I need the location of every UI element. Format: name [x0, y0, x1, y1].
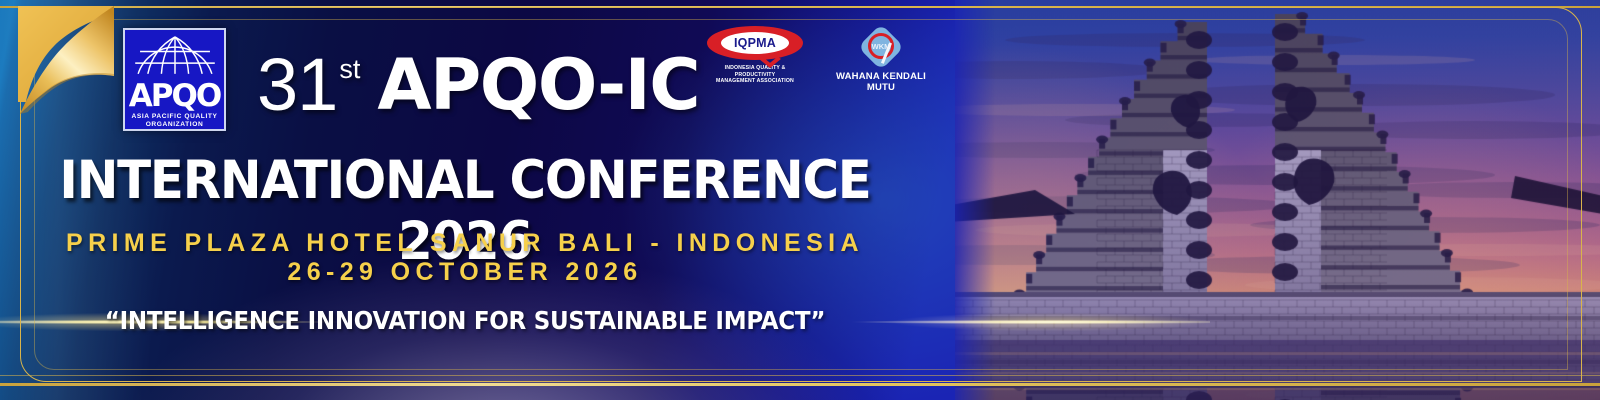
frame-bottom-line-secondary [0, 375, 1600, 376]
conference-acronym: APQO-IC [377, 48, 699, 122]
iqpma-logo: IQPMA INDONESIA QUALITY & PRODUCTIVITY M… [705, 26, 805, 85]
event-dates: 26-29 OCTOBER 2026 [0, 258, 930, 287]
wkm-logo: WKM WAHANA KENDALI MUTU [827, 26, 935, 93]
apqo-subtitle: ASIA PACIFIC QUALITY ORGANIZATION [132, 113, 218, 129]
venue-location: PRIME PLAZA HOTEL SANUR BALI - INDONESIA [0, 229, 930, 258]
globe-grid-icon [133, 35, 217, 82]
conference-tagline: “INTELLIGENCE INNOVATION FOR SUSTAINABLE… [37, 306, 893, 335]
apqo-acronym: APQO [129, 81, 220, 111]
conference-edition-title: 31 st APQO-IC [257, 48, 699, 122]
frame-bottom-line [0, 383, 1600, 386]
banner-content: APQO ASIA PACIFIC QUALITY ORGANIZATION 3… [0, 0, 960, 400]
edition-ordinal-suffix: st [339, 56, 360, 83]
wkm-mark-icon: WKM [860, 26, 902, 68]
iqpma-mark-icon: IQPMA [707, 26, 803, 62]
conference-banner: APQO ASIA PACIFIC QUALITY ORGANIZATION 3… [0, 0, 1600, 400]
bali-temple-photo [955, 0, 1600, 400]
frame-top-line [0, 6, 1600, 8]
gold-page-curl-icon [18, 6, 130, 118]
wkm-caption: WAHANA KENDALI MUTU [827, 71, 935, 93]
apqo-logo: APQO ASIA PACIFIC QUALITY ORGANIZATION [123, 28, 226, 131]
partner-logos: IQPMA INDONESIA QUALITY & PRODUCTIVITY M… [705, 26, 935, 93]
edition-number: 31 [257, 48, 337, 122]
iqpma-caption: INDONESIA QUALITY & PRODUCTIVITY MANAGEM… [705, 65, 805, 85]
iqpma-acronym: IQPMA [734, 36, 776, 50]
